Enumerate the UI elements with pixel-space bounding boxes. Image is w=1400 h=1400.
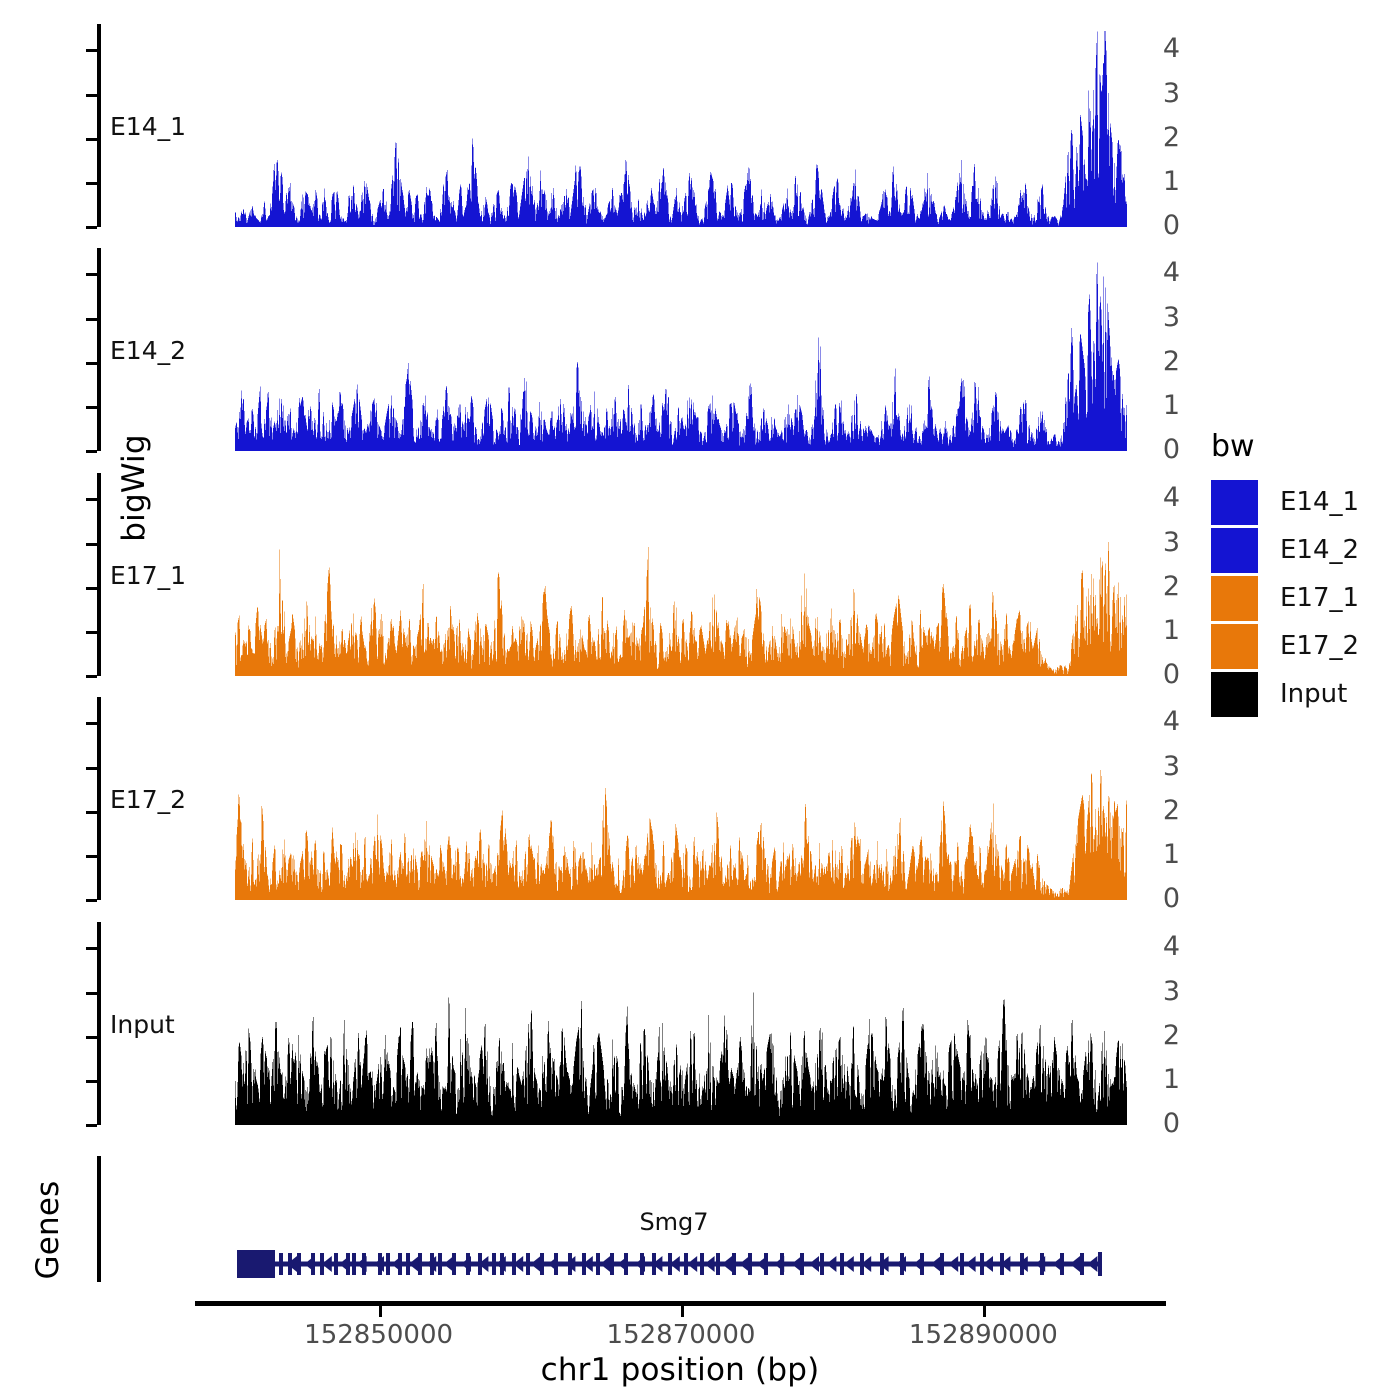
y-tick <box>86 450 97 453</box>
legend-swatch <box>1211 576 1258 621</box>
y-tick <box>86 362 97 365</box>
y-tick <box>86 811 97 814</box>
y-tick <box>86 406 97 409</box>
coverage-plot-e17_1[interactable] <box>101 473 1180 676</box>
legend-label: E17_1 <box>1280 583 1359 613</box>
legend-label: E17_2 <box>1280 631 1359 661</box>
y-tick <box>86 182 97 185</box>
legend-item-e17_1[interactable]: E17_1 <box>1211 574 1391 622</box>
track-panel-e17_1: 01234E17_1 <box>0 473 1180 676</box>
legend-label: Input <box>1280 679 1347 709</box>
track-panel-e14_1: 01234E14_1 <box>0 24 1180 227</box>
x-axis-label: chr1 position (bp) <box>195 1352 1165 1388</box>
y-tick <box>86 631 97 634</box>
y-tick <box>86 1036 97 1039</box>
legend-swatch <box>1211 624 1258 669</box>
y-tick <box>86 49 97 52</box>
y-tick <box>86 273 97 276</box>
y-tick <box>86 855 97 858</box>
legend-items: E14_1E14_2E17_1E17_2Input <box>1211 478 1391 718</box>
genome-browser-figure: bigWig Genes chr1 position (bp) 01234E14… <box>0 0 1400 1400</box>
y-tick <box>86 587 97 590</box>
genes-panel: Smg7 <box>0 1152 1180 1302</box>
coverage-plot-e17_2[interactable] <box>101 697 1180 900</box>
coverage-plot-input[interactable] <box>101 922 1180 1125</box>
legend-title: bw <box>1211 432 1391 462</box>
y-tick <box>86 94 97 97</box>
y-tick <box>86 1124 97 1127</box>
y-tick <box>86 138 97 141</box>
legend-label: E14_2 <box>1280 535 1359 565</box>
x-tick-label: 152870000 <box>607 1320 756 1350</box>
legend-swatch <box>1211 528 1258 573</box>
x-tick-label: 152850000 <box>304 1320 453 1350</box>
legend-item-e14_2[interactable]: E14_2 <box>1211 526 1391 574</box>
y-tick <box>86 498 97 501</box>
y-tick <box>86 722 97 725</box>
coverage-plot-e14_2[interactable] <box>101 248 1180 451</box>
legend-label: E14_1 <box>1280 487 1359 517</box>
legend: bw E14_1E14_2E17_1E17_2Input <box>1211 432 1391 718</box>
legend-item-input[interactable]: Input <box>1211 670 1391 718</box>
y-tick <box>86 318 97 321</box>
track-panel-input: 01234Input <box>0 922 1180 1125</box>
x-tick-label: 152890000 <box>909 1320 1058 1350</box>
y-tick <box>86 543 97 546</box>
legend-item-e14_1[interactable]: E14_1 <box>1211 478 1391 526</box>
y-tick <box>86 992 97 995</box>
x-tick <box>983 1306 986 1317</box>
y-tick <box>86 226 97 229</box>
y-tick <box>86 947 97 950</box>
y-tick <box>86 675 97 678</box>
legend-item-e17_2[interactable]: E17_2 <box>1211 622 1391 670</box>
y-tick <box>86 767 97 770</box>
y-tick <box>86 1080 97 1083</box>
coverage-plot-e14_1[interactable] <box>101 24 1180 227</box>
legend-swatch <box>1211 480 1258 525</box>
track-panel-e17_2: 01234E17_2 <box>0 697 1180 900</box>
x-tick <box>379 1306 382 1317</box>
legend-swatch <box>1211 672 1258 717</box>
track-panel-e14_2: 01234E14_2 <box>0 248 1180 451</box>
x-tick <box>681 1306 684 1317</box>
y-tick <box>86 899 97 902</box>
